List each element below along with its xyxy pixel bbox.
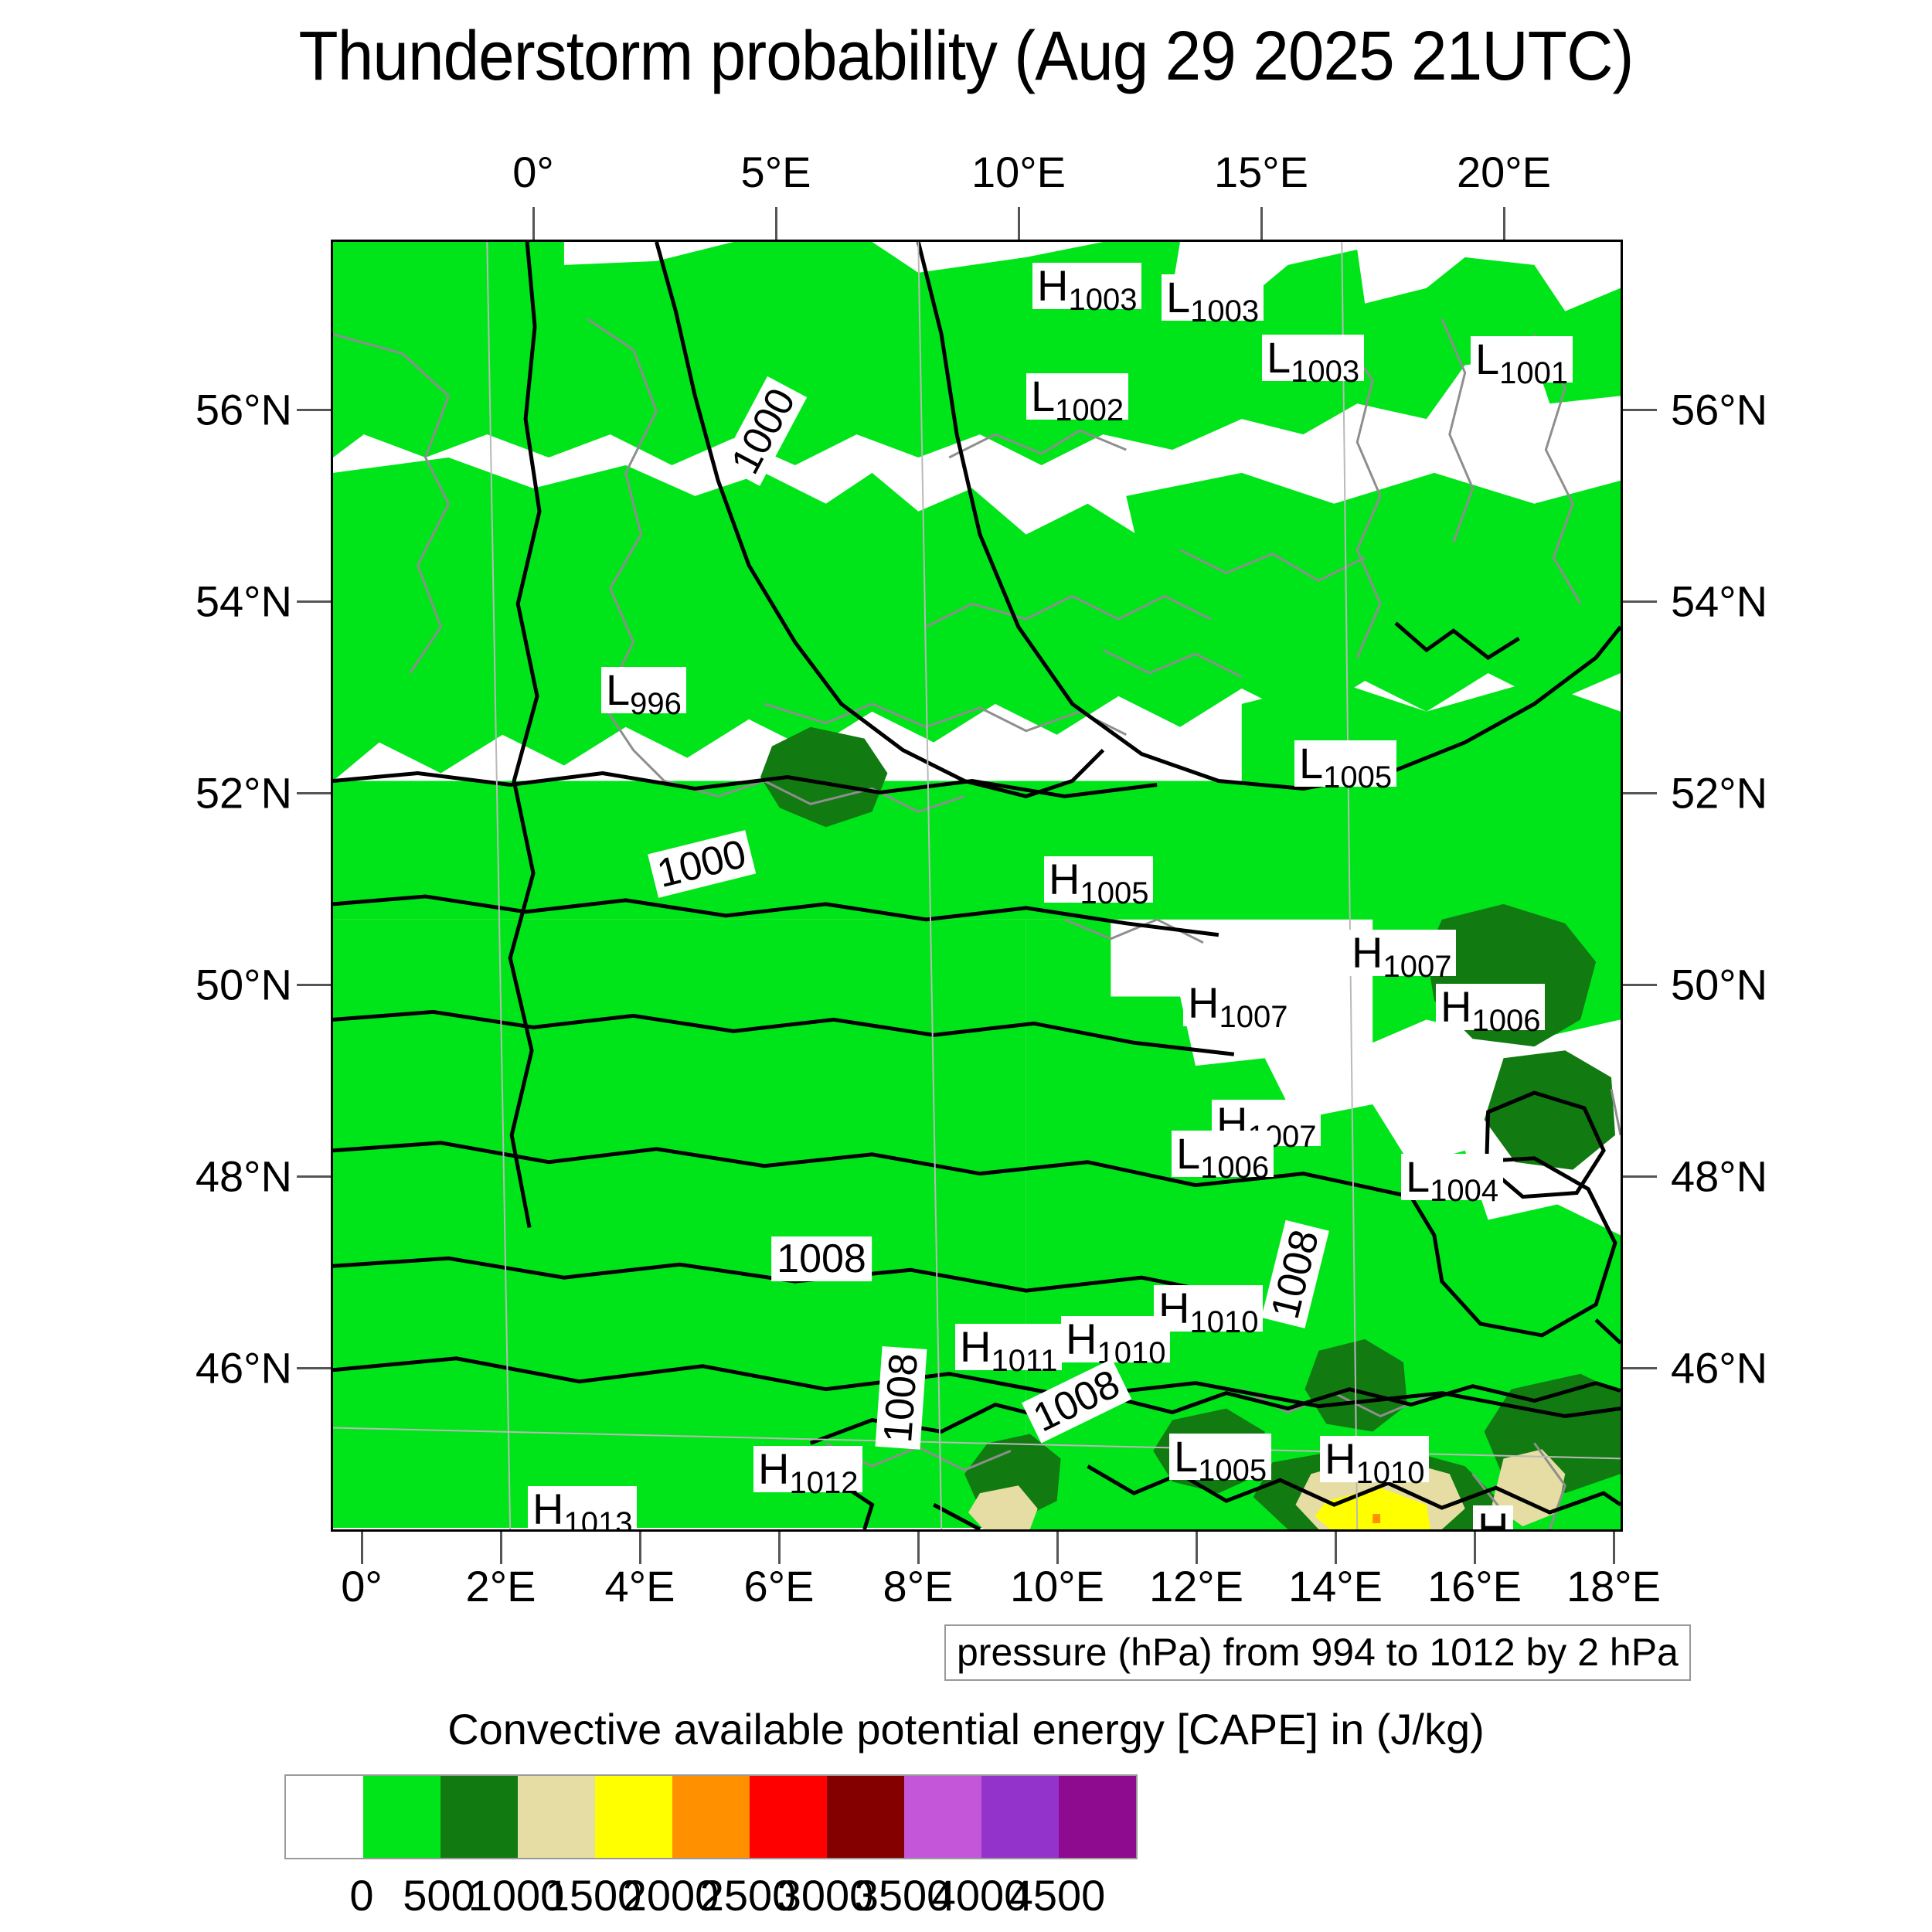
right-tick-mark-5 [1623, 1367, 1657, 1369]
pressure-label-h-1011-15: H1011 [955, 1324, 1062, 1370]
pressure-type-glyph: L [1475, 335, 1499, 383]
pressure-value: 1003 [1291, 355, 1359, 389]
bottom-axis-tick-6: 12°E [1149, 1561, 1243, 1611]
left-tick-mark-3 [297, 984, 331, 986]
bottom-tick-mark-5 [1056, 1532, 1059, 1564]
pressure-value: 1001 [1499, 356, 1568, 390]
pressure-type-glyph: H [758, 1444, 789, 1493]
contour-label-1008-2: 1008 [771, 1236, 872, 1281]
pressure-type-glyph: H [1352, 928, 1383, 977]
pressure-type-glyph: L [606, 665, 630, 714]
pressure-label-l-996-5: L996 [601, 667, 686, 713]
pressure-label-l-1006-12: L1006 [1172, 1131, 1274, 1177]
pressure-type-glyph: L [1031, 372, 1055, 420]
pressure-type-glyph: H [1325, 1434, 1355, 1483]
left-tick-mark-2 [297, 792, 331, 794]
colorbar-cell-9[interactable] [981, 1776, 1059, 1858]
top-tick-mark-3 [1260, 207, 1263, 240]
pressure-label-h-1007-8: H1007 [1347, 930, 1456, 976]
pressure-label-l-1001-3: L1001 [1471, 336, 1573, 383]
pressure-value: 1005 [1198, 1454, 1267, 1488]
top-tick-mark-1 [775, 207, 777, 240]
left-axis-tick-1: 54°N [114, 577, 292, 627]
left-axis-tick-5: 46°N [114, 1343, 292, 1393]
top-tick-mark-2 [1018, 207, 1020, 240]
colorbar-cell-1[interactable] [363, 1776, 440, 1858]
right-tick-mark-3 [1623, 984, 1657, 986]
pressure-label-h-1012-17: H1012 [753, 1446, 862, 1492]
pressure-value: 1007 [1219, 1000, 1287, 1034]
colorbar-tick-1: 500 [403, 1870, 474, 1920]
top-axis-tick-0: 0° [512, 147, 554, 197]
right-axis-tick-3: 50°N [1671, 960, 1872, 1010]
pressure-value: 1010 [1189, 1305, 1258, 1339]
pressure-type-glyph: H [1478, 1504, 1509, 1532]
top-axis-tick-1: 5°E [741, 147, 811, 197]
pressure-type-glyph: H [1188, 978, 1219, 1027]
top-axis-tick-3: 15°E [1214, 147, 1308, 197]
bottom-tick-mark-6 [1196, 1532, 1198, 1564]
pressure-label-l-1002-4: L1002 [1026, 373, 1128, 420]
colorbar-cell-10[interactable] [1059, 1776, 1136, 1858]
right-axis-tick-4: 48°N [1671, 1151, 1872, 1202]
pressure-label-h-1003-0: H1003 [1032, 263, 1141, 309]
contour-label-1008-3: 1008 [876, 1346, 927, 1449]
pressure-type-glyph: H [1440, 982, 1471, 1031]
pressure-value: 1006 [1471, 1004, 1540, 1038]
colorbar-cell-6[interactable] [750, 1776, 827, 1858]
colorbar-tick-0: 0 [349, 1870, 373, 1920]
colorbar-cell-4[interactable] [595, 1776, 672, 1858]
bottom-axis-tick-4: 8°E [883, 1561, 954, 1611]
pressure-value: 1002 [1055, 393, 1124, 427]
cape-colorbar[interactable] [284, 1774, 1138, 1859]
pressure-caption: pressure (hPa) from 994 to 1012 by 2 hPa [944, 1624, 1691, 1681]
right-tick-mark-4 [1623, 1175, 1657, 1178]
right-tick-mark-1 [1623, 600, 1657, 603]
pressure-value: 1004 [1430, 1174, 1498, 1208]
left-axis-tick-0: 56°N [114, 385, 292, 435]
pressure-type-glyph: L [1174, 1432, 1198, 1481]
pressure-label-h-1010-19: H1010 [1320, 1436, 1429, 1482]
top-tick-mark-4 [1503, 207, 1505, 240]
colorbar-tick-9: 4500 [1009, 1870, 1106, 1920]
bottom-tick-mark-2 [639, 1532, 641, 1564]
pressure-value: 1012 [789, 1466, 858, 1500]
pressure-type-glyph: H [1066, 1315, 1097, 1363]
pressure-type-glyph: L [1176, 1129, 1200, 1178]
left-tick-mark-1 [297, 600, 331, 603]
colorbar-title: Convective available potential energy [C… [0, 1704, 1932, 1754]
pressure-label-h-1005-7: H1005 [1044, 856, 1153, 903]
colorbar-cell-8[interactable] [904, 1776, 981, 1858]
pressure-label-l-1005-6: L1005 [1294, 740, 1396, 787]
bottom-axis-tick-0: 0° [341, 1561, 383, 1611]
left-axis-tick-3: 50°N [114, 960, 292, 1010]
left-axis-tick-4: 48°N [114, 1151, 292, 1202]
pressure-type-glyph: H [532, 1485, 563, 1532]
bottom-tick-mark-7 [1335, 1532, 1337, 1564]
pressure-value: 1003 [1068, 283, 1137, 317]
pressure-label-h-1013-20: H1013 [528, 1486, 637, 1532]
pressure-value: 1013 [563, 1506, 632, 1532]
bottom-tick-mark-1 [500, 1532, 502, 1564]
pressure-value: 1005 [1323, 760, 1392, 794]
pressure-value: 1007 [1383, 950, 1451, 984]
pressure-value: 1005 [1080, 876, 1148, 910]
colorbar-cell-7[interactable] [827, 1776, 904, 1858]
pressure-value: 996 [630, 687, 682, 721]
colorbar-cell-5[interactable] [672, 1776, 750, 1858]
pressure-label-h-1006-10: H1006 [1436, 984, 1545, 1030]
pressure-label-l-1004-13: L1004 [1401, 1154, 1503, 1200]
bottom-axis-tick-2: 4°E [605, 1561, 675, 1611]
pressure-type-glyph: H [960, 1322, 991, 1371]
bottom-tick-mark-9 [1613, 1532, 1615, 1564]
right-axis-tick-2: 52°N [1671, 768, 1872, 818]
pressure-value: 1010 [1355, 1456, 1424, 1490]
bottom-tick-mark-4 [917, 1532, 920, 1564]
map-plot-area[interactable]: H1003L1003L1003L1001L1002L996L1005H1005H… [331, 240, 1623, 1532]
right-axis-tick-5: 46°N [1671, 1343, 1872, 1393]
right-tick-mark-2 [1623, 792, 1657, 794]
right-axis-tick-0: 56°N [1671, 385, 1872, 435]
bottom-tick-mark-8 [1474, 1532, 1476, 1564]
left-tick-mark-5 [297, 1367, 331, 1369]
top-axis-tick-4: 20°E [1457, 147, 1551, 197]
page-title: Thunderstorm probability (Aug 29 2025 21… [68, 22, 1865, 91]
pressure-type-glyph: L [1406, 1152, 1430, 1201]
right-tick-mark-0 [1623, 409, 1657, 411]
left-axis-tick-2: 52°N [114, 768, 292, 818]
bottom-axis-tick-7: 14°E [1288, 1561, 1383, 1611]
pressure-label-l-1003-1: L1003 [1162, 274, 1264, 321]
left-tick-mark-0 [297, 409, 331, 411]
bottom-axis-tick-5: 10°E [1010, 1561, 1104, 1611]
pressure-label-h-1007-9: H1007 [1183, 980, 1292, 1026]
pressure-type-glyph: L [1166, 273, 1190, 321]
pressure-label-h-x-21: H [1473, 1505, 1513, 1532]
top-tick-mark-0 [532, 207, 535, 240]
pressure-label-h-1010-16: H1010 [1061, 1316, 1170, 1362]
top-axis-tick-2: 10°E [971, 147, 1066, 197]
bottom-axis-tick-1: 2°E [466, 1561, 536, 1611]
bottom-axis-tick-9: 18°E [1566, 1561, 1661, 1611]
left-tick-mark-4 [297, 1175, 331, 1178]
pressure-label-l-1003-2: L1003 [1262, 335, 1364, 381]
colorbar-cell-3[interactable] [518, 1776, 595, 1858]
bottom-tick-mark-3 [778, 1532, 781, 1564]
colorbar-cell-2[interactable] [440, 1776, 518, 1858]
pressure-value: 1006 [1200, 1151, 1269, 1185]
pressure-value: 1003 [1190, 294, 1259, 328]
pressure-type-glyph: L [1299, 739, 1323, 787]
colorbar-cell-0[interactable] [286, 1776, 363, 1858]
pressure-label-l-1005-18: L1005 [1169, 1434, 1271, 1480]
bottom-tick-mark-0 [361, 1532, 363, 1564]
cape-band-2000-2500 [1372, 1514, 1380, 1523]
bottom-axis-tick-3: 6°E [744, 1561, 815, 1611]
pressure-type-glyph: L [1267, 333, 1291, 382]
right-axis-tick-1: 54°N [1671, 577, 1872, 627]
pressure-type-glyph: H [1037, 261, 1068, 310]
bottom-axis-tick-8: 16°E [1427, 1561, 1522, 1611]
pressure-value: 1011 [991, 1344, 1057, 1378]
pressure-type-glyph: H [1049, 855, 1080, 903]
